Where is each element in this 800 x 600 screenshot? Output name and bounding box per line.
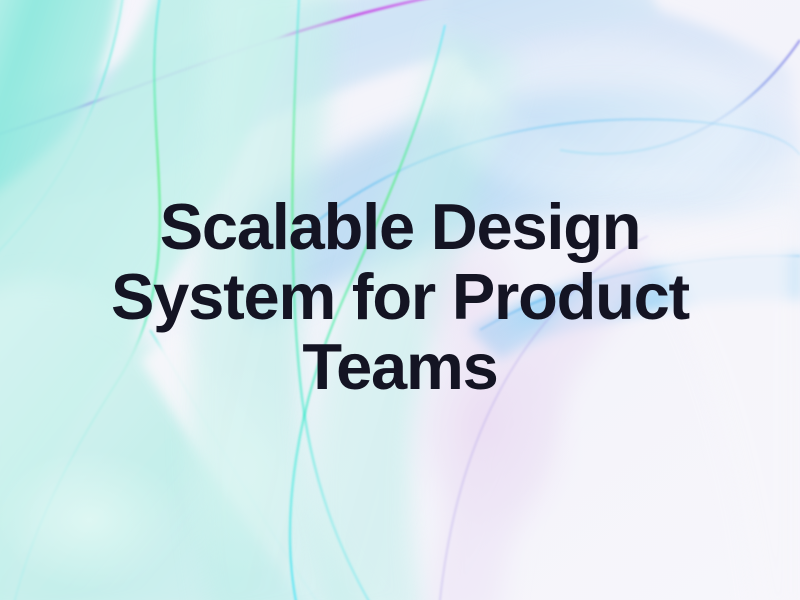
poster-canvas: Scalable Design System for Product Teams bbox=[0, 0, 800, 600]
headline-layer: Scalable Design System for Product Teams bbox=[0, 0, 800, 600]
page-title: Scalable Design System for Product Teams bbox=[80, 192, 720, 402]
